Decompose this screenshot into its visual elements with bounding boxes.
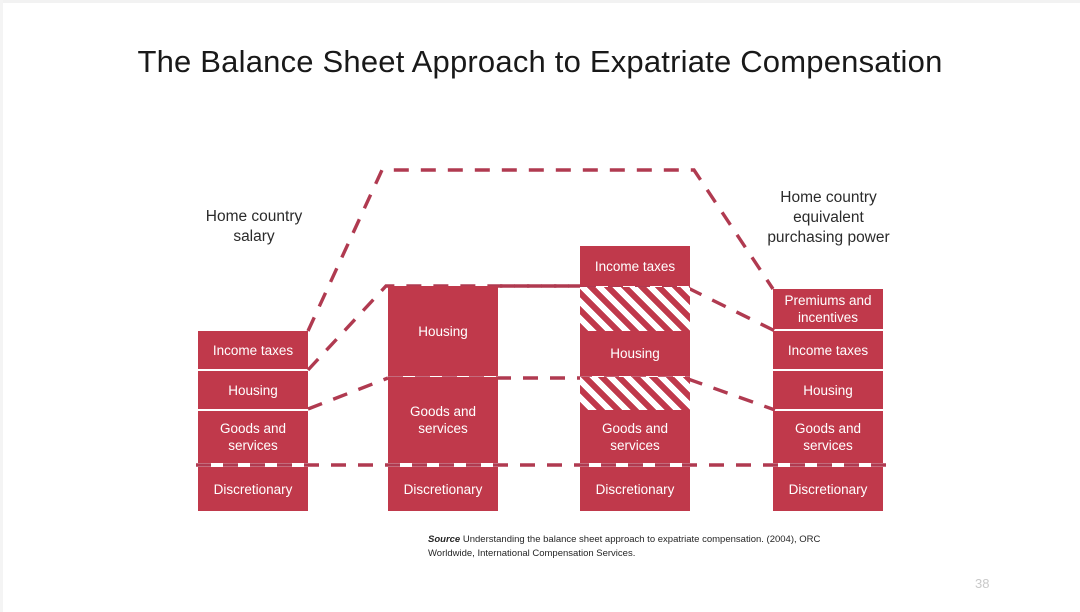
segment-income-taxes[interactable]: Income taxes	[198, 331, 308, 369]
segment-discretionary[interactable]: Discretionary	[198, 467, 308, 511]
connector-mid-tier-right	[688, 379, 775, 410]
segment-goods-and-services[interactable]: Goods and services	[198, 411, 308, 463]
source-note: Source Understanding the balance sheet a…	[428, 533, 848, 560]
segment-discretionary[interactable]: Discretionary	[388, 467, 498, 511]
page-number: 38	[975, 576, 989, 591]
connector-lines	[0, 0, 1080, 612]
segment-goods-and-services[interactable]: Goods and services	[580, 410, 690, 463]
segment-housing[interactable]: Housing	[580, 331, 690, 376]
column-heading-home-country-equivalent: Home country equivalent purchasing power	[756, 188, 901, 248]
segment-discretionary[interactable]: Discretionary	[773, 467, 883, 511]
column-heading-home-country-salary: Home country salary	[198, 207, 310, 247]
segment-discretionary[interactable]: Discretionary	[580, 467, 690, 511]
segment-housing[interactable]: Housing	[773, 371, 883, 409]
segment-goods-and-services[interactable]: Goods and services	[773, 411, 883, 463]
connector-upper-tier-right	[688, 288, 775, 331]
segment-goods-and-services[interactable]: Goods and services	[388, 377, 498, 463]
segment-housing[interactable]: Housing	[388, 286, 498, 376]
segment-income-taxes[interactable]: Income taxes	[580, 246, 690, 286]
segment-income-taxes[interactable]: Income taxes	[773, 331, 883, 369]
segment-housing[interactable]: Housing	[198, 371, 308, 409]
segment-hatched-tax-differential[interactable]	[580, 287, 690, 331]
source-text: Understanding the balance sheet approach…	[428, 534, 820, 559]
connector-outer-envelope	[308, 170, 773, 331]
connector-mid-tier	[308, 378, 388, 409]
segment-premiums-and-incentives[interactable]: Premiums and incentives	[773, 289, 883, 329]
source-label: Source	[428, 534, 460, 545]
balance-sheet-diagram: Home country salary Income taxes Housing…	[0, 0, 1080, 612]
segment-hatched-housing-differential[interactable]	[580, 377, 690, 410]
